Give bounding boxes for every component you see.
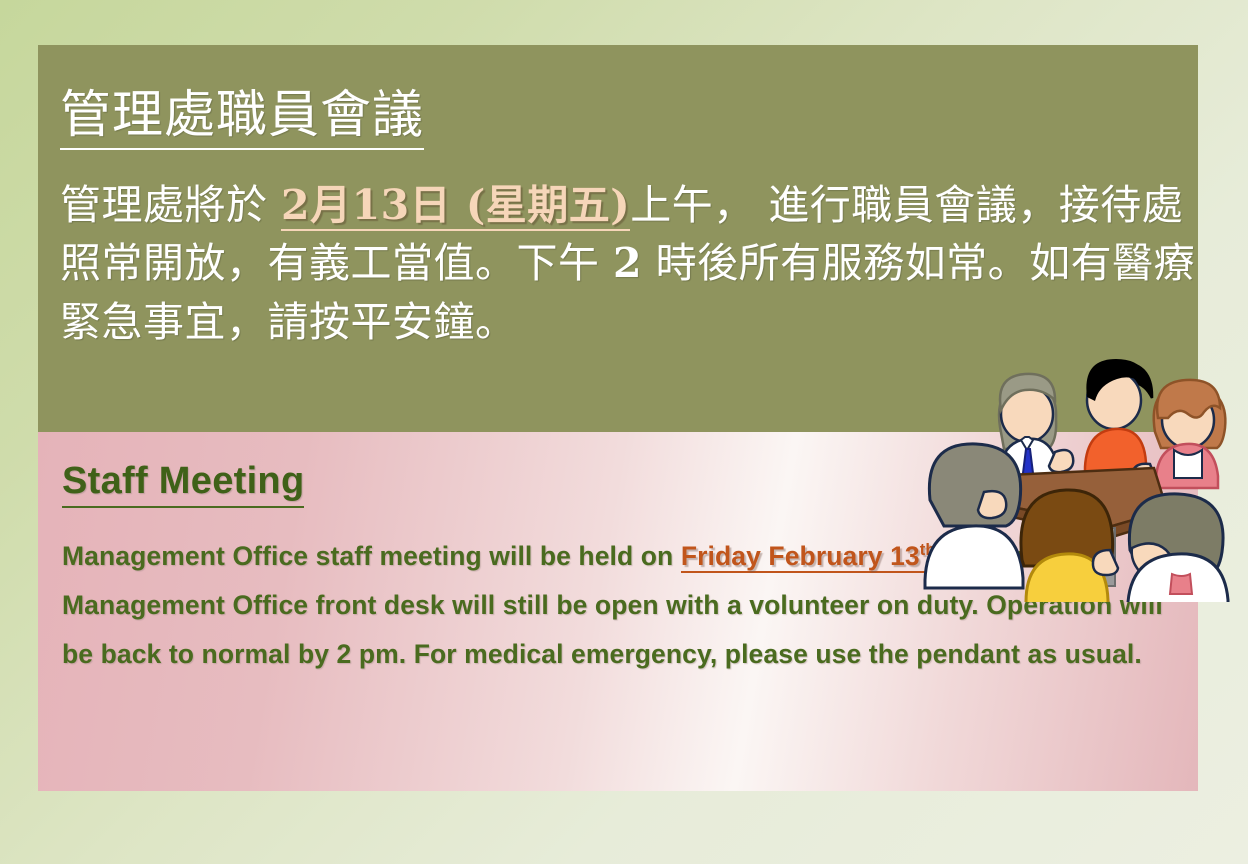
english-meeting-date: Friday February 13th <box>681 541 936 573</box>
chinese-meeting-date: 2月13日 (星期五) <box>281 181 630 231</box>
chinese-body-part1: 管理處將於 <box>60 181 281 229</box>
slide-canvas: 管理處職員會議 管理處將於 2月13日 (星期五)上午， 進行職員會議，接待處照… <box>0 0 1248 864</box>
english-meeting-date-main: Friday February 13 <box>681 541 920 571</box>
chinese-announcement-panel: 管理處職員會議 管理處將於 2月13日 (星期五)上午， 進行職員會議，接待處照… <box>38 45 1198 432</box>
chinese-title: 管理處職員會議 <box>60 87 424 150</box>
english-body-part1: Management Office staff meeting will be … <box>62 541 681 571</box>
english-announcement-panel: Staff Meeting Management Office staff me… <box>38 432 1198 791</box>
chinese-body-hour: 2 <box>613 239 642 287</box>
english-body-text: Management Office staff meeting will be … <box>62 532 1198 678</box>
chinese-body-text: 管理處將於 2月13日 (星期五)上午， 進行職員會議，接待處照常開放，有義工當… <box>60 176 1198 351</box>
english-title: Staff Meeting <box>62 460 304 508</box>
english-meeting-date-ordinal: th <box>920 541 936 559</box>
